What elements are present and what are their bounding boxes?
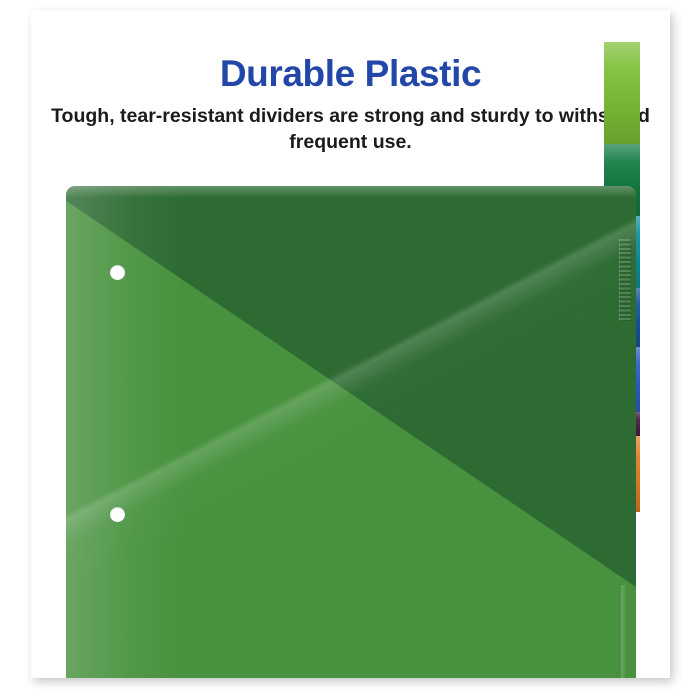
index-tab-1 <box>604 42 640 144</box>
punch-hole <box>110 507 125 522</box>
product-description: Tough, tear-resistant dividers are stron… <box>45 103 656 155</box>
reinforced-binding-strip <box>619 239 631 321</box>
divider-front-pocket <box>66 186 636 678</box>
punch-hole <box>110 265 125 280</box>
page-title: Durable Plastic <box>31 55 670 94</box>
plastic-divider-sheet <box>66 186 636 678</box>
sheet-top-highlight <box>66 186 636 198</box>
product-card: Durable Plastic Tough, tear-resistant di… <box>31 10 670 678</box>
product-image-canvas: Durable Plastic Tough, tear-resistant di… <box>0 0 700 700</box>
tab-gloss <box>604 42 640 144</box>
